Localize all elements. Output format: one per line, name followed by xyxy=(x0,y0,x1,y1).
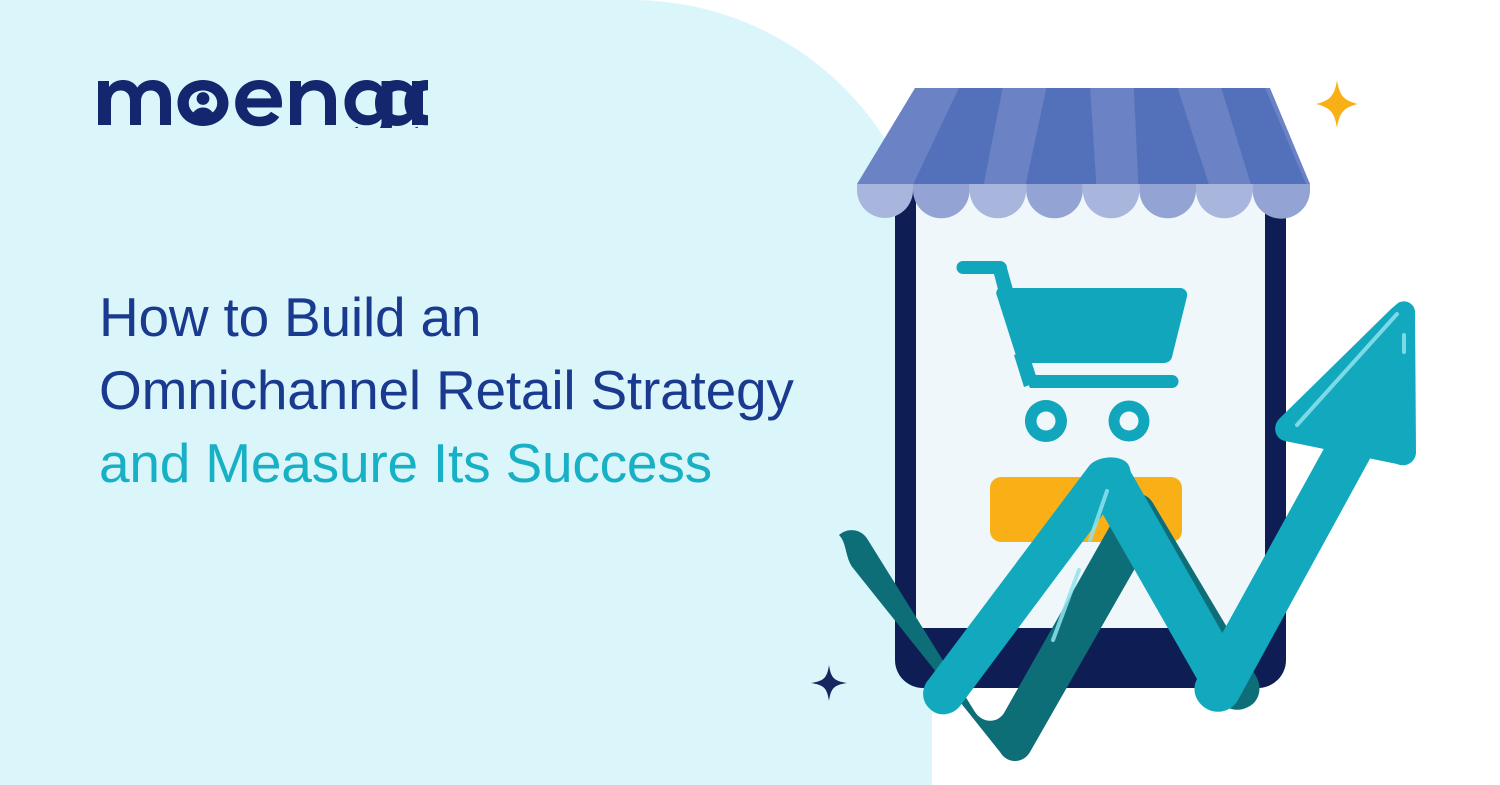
sparkle-star-orange xyxy=(1316,80,1358,128)
cover-canvas: How to Build an Omnichannel Retail Strat… xyxy=(0,0,1500,785)
headline-line-3: and Measure Its Success xyxy=(99,427,889,500)
arrow-highlight-lines xyxy=(1053,314,1404,640)
moengage-logo-mark xyxy=(98,66,428,128)
cta-button-shape xyxy=(990,477,1182,542)
headline-line-2: Omnichannel Retail Strategy xyxy=(99,354,889,427)
awning-scallops xyxy=(857,184,1310,219)
growth-arrow-front xyxy=(923,301,1416,720)
storefront-awning xyxy=(857,88,1310,219)
moengage-logo[interactable] xyxy=(98,66,428,128)
shopping-cart-icon xyxy=(957,261,1188,442)
headline-line-1: How to Build an xyxy=(99,281,889,354)
phone-screen xyxy=(916,190,1265,628)
phone-frame xyxy=(895,190,1286,688)
page-title: How to Build an Omnichannel Retail Strat… xyxy=(99,281,889,500)
